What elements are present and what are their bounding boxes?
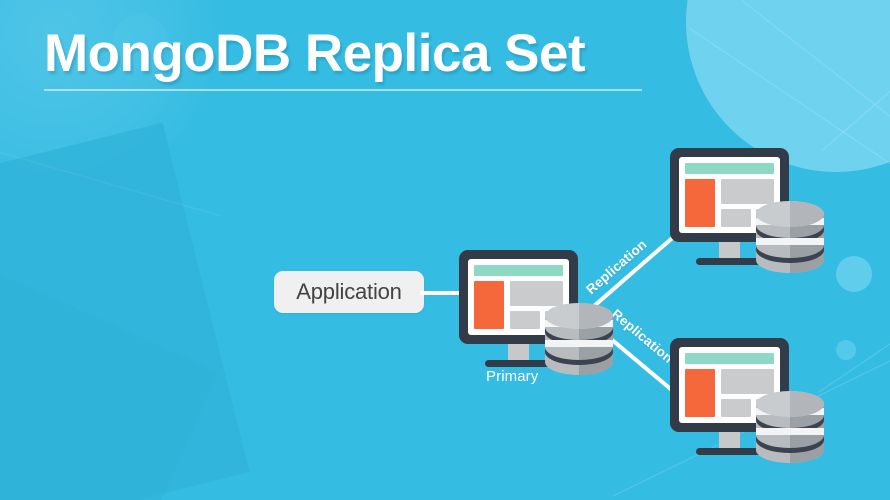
monitor-neck xyxy=(719,242,740,258)
circle-outer-top-right xyxy=(726,0,890,124)
monitor-base xyxy=(485,360,552,367)
monitor-base xyxy=(696,448,763,455)
hairline-6 xyxy=(0,152,221,216)
database-cylinder-primary xyxy=(543,296,615,382)
database-cylinder-secondary-bottom xyxy=(754,384,826,470)
node-label-primary: Primary xyxy=(486,368,538,385)
monitor-neck xyxy=(508,344,529,360)
application-label: Application xyxy=(296,279,401,305)
screen-topbar xyxy=(685,353,774,364)
circle-middle-top-right xyxy=(700,0,890,152)
screen-sidebar-orange xyxy=(685,369,715,417)
screen-block-small xyxy=(721,209,751,227)
monitor-neck xyxy=(719,432,740,448)
monitor-base xyxy=(696,258,763,265)
hairline-4 xyxy=(818,263,890,392)
connector-label-replication-bottom: Replication xyxy=(609,306,676,366)
title-underline xyxy=(44,89,642,91)
circle-dot-right-large xyxy=(836,256,872,292)
polygon-left-upper xyxy=(0,123,250,500)
circle-dot-right-small xyxy=(836,340,856,360)
screen-topbar xyxy=(474,265,563,276)
circle-inner-top-right xyxy=(686,0,890,172)
hairline-3 xyxy=(822,0,890,151)
title-block: MongoDB Replica Set xyxy=(44,26,664,91)
application-box[interactable]: Application xyxy=(274,271,424,313)
screen-block-small xyxy=(721,399,751,417)
screen-sidebar-orange xyxy=(474,281,504,329)
screen-sidebar-orange xyxy=(685,179,715,227)
database-cylinder-secondary-top xyxy=(754,194,826,280)
slide-canvas: MongoDB Replica Set Application Replicat… xyxy=(0,0,890,500)
polygon-left-lower xyxy=(0,254,218,500)
page-title: MongoDB Replica Set xyxy=(44,26,664,82)
screen-block-small xyxy=(510,311,540,329)
screen-topbar xyxy=(685,163,774,174)
